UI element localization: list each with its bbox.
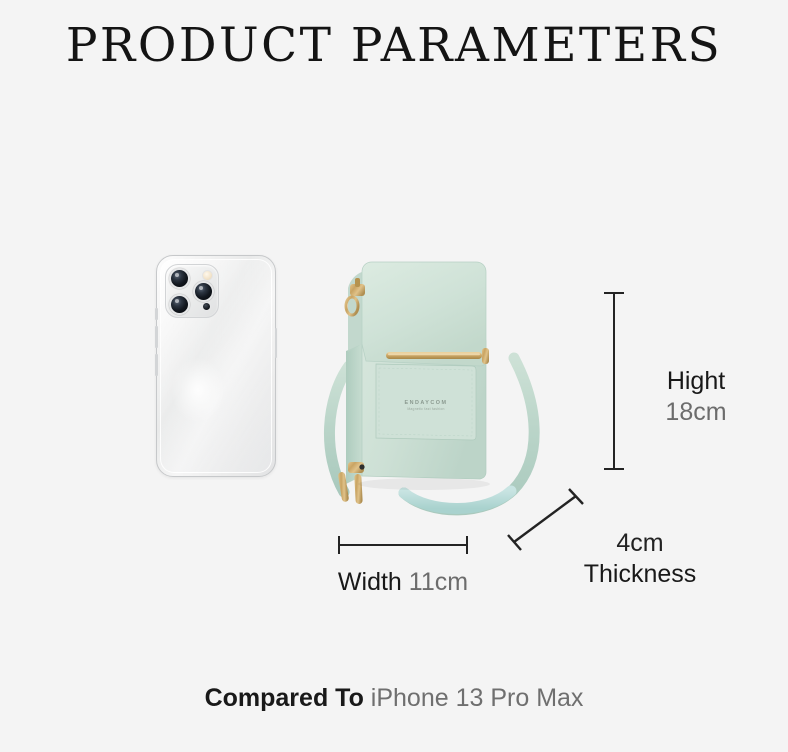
bag-flap (362, 262, 486, 366)
height-label-text: Hight (636, 366, 756, 397)
bag-zipper-clasp-stem (355, 278, 360, 287)
phone-volume-down-button-icon (155, 354, 158, 376)
product-parameters-page: PRODUCT PARAMETERS (0, 0, 788, 752)
page-title: PRODUCT PARAMETERS (0, 18, 788, 74)
comparison-device-text: iPhone 13 Pro Max (371, 684, 584, 712)
thickness-value-text: 4cm (560, 528, 720, 559)
camera-lens-icon-1 (169, 268, 190, 289)
height-dimension-label: Hight 18cm (636, 366, 756, 428)
height-value-text: 18cm (636, 397, 756, 428)
phone-power-button-icon (275, 328, 278, 358)
width-measure-cap-left (338, 536, 340, 554)
width-value-text: 11cm (409, 568, 468, 596)
bag-gold-bar-accent (386, 352, 482, 359)
bag-gold-bar-highlight (388, 353, 480, 355)
bag-strap-anchor-right (482, 348, 489, 364)
comparison-caption: Compared To iPhone 13 Pro Max (0, 682, 788, 714)
width-measure-cap-right (466, 536, 468, 554)
bag-shadow (358, 478, 490, 490)
width-label-text: Width (338, 568, 402, 596)
height-measure-line (613, 292, 615, 470)
phone-volume-up-button-icon (155, 326, 158, 348)
width-measure-line (338, 544, 468, 546)
thickness-dimension-label: 4cm Thickness (560, 528, 720, 590)
phone-camera-module (165, 264, 219, 318)
bag-strap-front (404, 491, 511, 509)
height-measure-cap-bottom (604, 468, 624, 470)
bag-front-pocket (376, 364, 476, 440)
height-measure-cap-top (604, 292, 624, 294)
thickness-cap-upper (569, 489, 583, 504)
width-dimension-label: Width 11cm (303, 566, 503, 598)
camera-lens-icon-3 (193, 281, 214, 302)
phone-mute-switch-icon (155, 308, 158, 320)
lidar-sensor-icon (202, 302, 211, 311)
iphone-illustration (156, 255, 276, 477)
thickness-label-text: Thickness (560, 559, 720, 590)
comparison-prefix-text: Compared To (205, 684, 364, 712)
bag-zipper-stud (359, 464, 364, 469)
camera-flash-icon (202, 270, 213, 281)
camera-lens-icon-2 (169, 294, 190, 315)
